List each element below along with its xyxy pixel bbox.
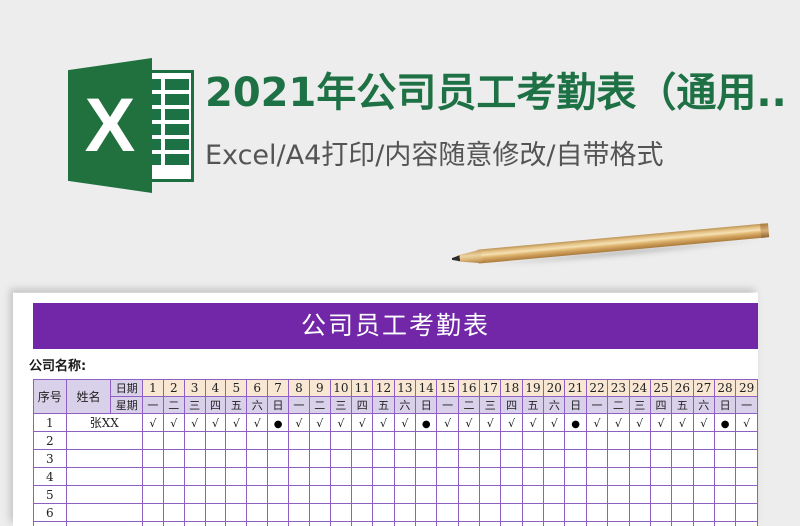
attendance-cell[interactable]: [163, 522, 184, 526]
attendance-cell[interactable]: [629, 432, 650, 450]
weekday-cell: 三: [330, 397, 351, 414]
table-row[interactable]: 2: [34, 432, 758, 450]
present-mark: √: [636, 417, 643, 430]
attendance-cell[interactable]: [288, 504, 309, 522]
attendance-cell[interactable]: [565, 504, 586, 522]
attendance-cell[interactable]: [736, 450, 758, 468]
attendance-cell[interactable]: [330, 504, 351, 522]
attendance-cell[interactable]: [608, 432, 629, 450]
attendance-cell[interactable]: [184, 432, 205, 450]
present-mark: √: [615, 417, 622, 430]
day-number-cell: 14: [416, 380, 437, 397]
company-name-row: 公司名称:: [13, 353, 758, 375]
attendance-cell[interactable]: √: [458, 414, 479, 432]
present-mark: √: [465, 417, 472, 430]
attendance-cell[interactable]: √: [586, 414, 607, 432]
weekday-cell: 六: [693, 397, 714, 414]
attendance-cell[interactable]: [480, 486, 501, 504]
attendance-cell[interactable]: [268, 504, 289, 522]
attendance-cell[interactable]: [309, 486, 330, 504]
attendance-cell[interactable]: [309, 450, 330, 468]
attendance-cell[interactable]: [288, 486, 309, 504]
attendance-cell[interactable]: [247, 486, 268, 504]
attendance-cell[interactable]: [501, 486, 522, 504]
attendance-cell[interactable]: [352, 504, 373, 522]
attendance-cell[interactable]: [672, 450, 693, 468]
attendance-cell[interactable]: [480, 468, 501, 486]
attendance-cell[interactable]: [288, 522, 309, 526]
attendance-cell[interactable]: [608, 468, 629, 486]
pencil-end: [760, 223, 769, 238]
attendance-cell[interactable]: [226, 522, 247, 526]
attendance-cell[interactable]: [522, 504, 543, 522]
attendance-table[interactable]: 序号姓名日期1234567891011121314151617181920212…: [33, 379, 758, 526]
attendance-cell[interactable]: ●: [416, 414, 437, 432]
attendance-cell[interactable]: [416, 486, 437, 504]
attendance-cell[interactable]: [163, 504, 184, 522]
attendance-cell[interactable]: [163, 450, 184, 468]
row-name-cell[interactable]: [66, 450, 142, 468]
weekday-cell: 一: [736, 397, 758, 414]
day-number-cell: 19: [522, 380, 543, 397]
weekday-cell: 三: [184, 397, 205, 414]
attendance-cell[interactable]: [437, 504, 458, 522]
present-mark: √: [254, 417, 261, 430]
attendance-cell[interactable]: [394, 522, 415, 526]
attendance-cell[interactable]: [544, 432, 565, 450]
attendance-cell[interactable]: [416, 522, 437, 526]
attendance-cell[interactable]: [288, 450, 309, 468]
attendance-cell[interactable]: [268, 522, 289, 526]
attendance-cell[interactable]: √: [608, 414, 629, 432]
attendance-cell[interactable]: [330, 432, 351, 450]
attendance-cell[interactable]: [163, 486, 184, 504]
row-index-cell[interactable]: 3: [34, 450, 67, 468]
row-index-cell[interactable]: 1: [34, 414, 67, 432]
attendance-cell[interactable]: [586, 504, 607, 522]
attendance-cell[interactable]: [330, 486, 351, 504]
attendance-grid-wrapper[interactable]: 序号姓名日期1234567891011121314151617181920212…: [33, 379, 758, 526]
attendance-cell[interactable]: [565, 486, 586, 504]
attendance-cell[interactable]: [544, 522, 565, 526]
attendance-cell[interactable]: [480, 432, 501, 450]
day-number-cell: 27: [693, 380, 714, 397]
weekday-cell: 四: [501, 397, 522, 414]
attendance-cell[interactable]: [330, 522, 351, 526]
attendance-cell[interactable]: [352, 486, 373, 504]
attendance-cell[interactable]: [184, 522, 205, 526]
day-number-cell: 17: [480, 380, 501, 397]
attendance-cell[interactable]: [394, 468, 415, 486]
attendance-cell[interactable]: [437, 432, 458, 450]
weekday-cell: 二: [608, 397, 629, 414]
weekday-cell: 五: [373, 397, 394, 414]
attendance-cell[interactable]: [373, 486, 394, 504]
attendance-cell[interactable]: [352, 432, 373, 450]
attendance-cell[interactable]: [501, 468, 522, 486]
row-name-cell[interactable]: [66, 468, 142, 486]
attendance-cell[interactable]: [672, 504, 693, 522]
attendance-cell[interactable]: [268, 450, 289, 468]
attendance-cell[interactable]: [693, 468, 714, 486]
attendance-cell[interactable]: [330, 468, 351, 486]
pencil-graphite-tip: [452, 255, 461, 262]
attendance-cell[interactable]: [714, 504, 735, 522]
row-name-cell[interactable]: 张XX: [66, 414, 142, 432]
day-number-cell: 23: [608, 380, 629, 397]
attendance-cell[interactable]: [629, 522, 650, 526]
attendance-cell[interactable]: [608, 486, 629, 504]
attendance-cell[interactable]: [586, 432, 607, 450]
attendance-cell[interactable]: [309, 522, 330, 526]
attendance-cell[interactable]: √: [247, 414, 268, 432]
attendance-cell[interactable]: ●: [714, 414, 735, 432]
attendance-cell[interactable]: [608, 450, 629, 468]
present-mark: √: [191, 417, 198, 430]
attendance-cell[interactable]: √: [163, 414, 184, 432]
attendance-cell[interactable]: [672, 522, 693, 526]
attendance-cell[interactable]: [736, 504, 758, 522]
attendance-cell[interactable]: [309, 468, 330, 486]
attendance-cell[interactable]: [544, 504, 565, 522]
attendance-cell[interactable]: √: [437, 414, 458, 432]
attendance-cell[interactable]: [247, 504, 268, 522]
attendance-cell[interactable]: [394, 450, 415, 468]
attendance-cell[interactable]: [352, 522, 373, 526]
table-row[interactable]: 1张XX√√√√√√●√√√√√√●√√√√√√●√√√√√√●√: [34, 414, 758, 432]
weekday-cell: 四: [352, 397, 373, 414]
present-mark: √: [487, 417, 494, 430]
attendance-cell[interactable]: [522, 468, 543, 486]
table-row[interactable]: 4: [34, 468, 758, 486]
row-name-cell[interactable]: [66, 432, 142, 450]
attendance-cell[interactable]: [693, 522, 714, 526]
attendance-cell[interactable]: [247, 432, 268, 450]
attendance-cell[interactable]: [373, 468, 394, 486]
attendance-cell[interactable]: [650, 522, 671, 526]
rest-day-mark: ●: [571, 419, 580, 430]
table-row[interactable]: 3: [34, 450, 758, 468]
attendance-cell[interactable]: √: [352, 414, 373, 432]
attendance-cell[interactable]: [142, 486, 163, 504]
weekday-cell: 三: [480, 397, 501, 414]
attendance-cell[interactable]: [352, 468, 373, 486]
attendance-cell[interactable]: [184, 504, 205, 522]
attendance-cell[interactable]: [650, 432, 671, 450]
attendance-cell[interactable]: √: [736, 414, 758, 432]
attendance-cell[interactable]: [650, 486, 671, 504]
attendance-cell[interactable]: √: [330, 414, 351, 432]
attendance-cell[interactable]: [247, 468, 268, 486]
header-name: 姓名: [66, 380, 111, 414]
present-mark: √: [551, 417, 558, 430]
attendance-cell[interactable]: [416, 468, 437, 486]
company-name-label: 公司名称:: [29, 355, 86, 374]
attendance-cell[interactable]: [205, 450, 226, 468]
attendance-cell[interactable]: [458, 450, 479, 468]
present-mark: √: [380, 417, 387, 430]
attendance-cell[interactable]: [247, 522, 268, 526]
day-number-cell: 13: [394, 380, 415, 397]
attendance-cell[interactable]: [544, 468, 565, 486]
attendance-cell[interactable]: [522, 432, 543, 450]
day-number-cell: 16: [458, 380, 479, 397]
attendance-cell[interactable]: [586, 486, 607, 504]
day-number-cell: 28: [714, 380, 735, 397]
table-row[interactable]: 6: [34, 504, 758, 522]
attendance-cell[interactable]: [480, 504, 501, 522]
attendance-cell[interactable]: [394, 486, 415, 504]
attendance-cell[interactable]: [736, 468, 758, 486]
row-name-cell[interactable]: [66, 504, 142, 522]
attendance-cell[interactable]: [373, 450, 394, 468]
attendance-cell[interactable]: [226, 468, 247, 486]
attendance-cell[interactable]: ●: [268, 414, 289, 432]
day-number-cell: 26: [672, 380, 693, 397]
attendance-cell[interactable]: [693, 486, 714, 504]
attendance-cell[interactable]: [394, 504, 415, 522]
attendance-cell[interactable]: [309, 432, 330, 450]
attendance-cell[interactable]: [650, 450, 671, 468]
attendance-cell[interactable]: [142, 432, 163, 450]
present-mark: √: [359, 417, 366, 430]
attendance-cell[interactable]: [522, 450, 543, 468]
attendance-cell[interactable]: [288, 432, 309, 450]
attendance-cell[interactable]: √: [629, 414, 650, 432]
table-row[interactable]: 7: [34, 522, 758, 526]
attendance-cell[interactable]: [247, 450, 268, 468]
day-number-cell: 4: [205, 380, 226, 397]
attendance-cell[interactable]: [565, 432, 586, 450]
attendance-cell[interactable]: [565, 450, 586, 468]
row-name-cell[interactable]: [66, 486, 142, 504]
attendance-cell[interactable]: [480, 522, 501, 526]
attendance-cell[interactable]: [714, 432, 735, 450]
attendance-cell[interactable]: √: [394, 414, 415, 432]
attendance-cell[interactable]: √: [650, 414, 671, 432]
present-mark: √: [170, 417, 177, 430]
attendance-cell[interactable]: [458, 432, 479, 450]
row-name-cell[interactable]: [66, 522, 142, 526]
attendance-cell[interactable]: [437, 450, 458, 468]
attendance-cell[interactable]: [458, 486, 479, 504]
attendance-cell[interactable]: [205, 504, 226, 522]
attendance-cell[interactable]: √: [373, 414, 394, 432]
attendance-cell[interactable]: [501, 522, 522, 526]
present-mark: √: [700, 417, 707, 430]
attendance-cell[interactable]: [544, 486, 565, 504]
attendance-cell[interactable]: [268, 468, 289, 486]
attendance-cell[interactable]: [184, 468, 205, 486]
weekday-cell: 五: [226, 397, 247, 414]
row-index-cell[interactable]: 5: [34, 486, 67, 504]
weekday-cell: 六: [394, 397, 415, 414]
attendance-cell[interactable]: [142, 450, 163, 468]
weekday-cell: 一: [142, 397, 163, 414]
weekday-cell: 五: [672, 397, 693, 414]
attendance-cell[interactable]: [672, 468, 693, 486]
attendance-cell[interactable]: √: [184, 414, 205, 432]
rest-day-mark: ●: [422, 419, 431, 430]
attendance-cell[interactable]: [714, 486, 735, 504]
day-number-cell: 29: [736, 380, 758, 397]
attendance-cell[interactable]: [205, 522, 226, 526]
attendance-cell[interactable]: [586, 450, 607, 468]
attendance-cell[interactable]: [458, 522, 479, 526]
day-number-cell: 11: [352, 380, 373, 397]
attendance-cell[interactable]: √: [205, 414, 226, 432]
attendance-cell[interactable]: √: [309, 414, 330, 432]
attendance-cell[interactable]: [650, 504, 671, 522]
attendance-cell[interactable]: [501, 432, 522, 450]
attendance-cell[interactable]: [268, 432, 289, 450]
attendance-cell[interactable]: [714, 450, 735, 468]
day-number-cell: 15: [437, 380, 458, 397]
attendance-cell[interactable]: [205, 432, 226, 450]
attendance-cell[interactable]: [226, 432, 247, 450]
attendance-cell[interactable]: [205, 468, 226, 486]
attendance-cell[interactable]: [522, 486, 543, 504]
attendance-cell[interactable]: [142, 504, 163, 522]
attendance-cell[interactable]: [226, 486, 247, 504]
attendance-cell[interactable]: √: [288, 414, 309, 432]
attendance-cell[interactable]: [437, 486, 458, 504]
weekday-cell: 一: [437, 397, 458, 414]
present-mark: √: [233, 417, 240, 430]
day-number-cell: 1: [142, 380, 163, 397]
attendance-cell[interactable]: √: [142, 414, 163, 432]
row-index-cell[interactable]: 2: [34, 432, 67, 450]
attendance-cell[interactable]: [501, 504, 522, 522]
promo-banner: X 2021年公司员工考勤表（通用... Excel/A4打印/内容随意修改/自…: [0, 0, 800, 293]
attendance-cell[interactable]: [330, 450, 351, 468]
attendance-cell[interactable]: [501, 450, 522, 468]
present-mark: √: [149, 417, 156, 430]
weekday-cell: 六: [247, 397, 268, 414]
table-row[interactable]: 5: [34, 486, 758, 504]
present-mark: √: [212, 417, 219, 430]
attendance-cell[interactable]: [629, 450, 650, 468]
attendance-cell[interactable]: √: [693, 414, 714, 432]
attendance-cell[interactable]: √: [226, 414, 247, 432]
attendance-cell[interactable]: [416, 432, 437, 450]
attendance-cell[interactable]: √: [544, 414, 565, 432]
attendance-cell[interactable]: [142, 522, 163, 526]
attendance-cell[interactable]: [586, 522, 607, 526]
attendance-cell[interactable]: [565, 468, 586, 486]
promo-subtitle: Excel/A4打印/内容随意修改/自带格式: [205, 136, 785, 176]
weekday-cell: 日: [268, 397, 289, 414]
attendance-cell[interactable]: [565, 522, 586, 526]
day-number-cell: 18: [501, 380, 522, 397]
attendance-cell[interactable]: [650, 468, 671, 486]
day-number-cell: 6: [247, 380, 268, 397]
attendance-cell[interactable]: [416, 504, 437, 522]
sheet-title-banner: 公司员工考勤表: [33, 303, 758, 349]
weekday-cell: 六: [544, 397, 565, 414]
present-mark: √: [337, 417, 344, 430]
attendance-cell[interactable]: [184, 450, 205, 468]
attendance-cell[interactable]: [163, 432, 184, 450]
attendance-cell[interactable]: [608, 522, 629, 526]
row-index-cell[interactable]: 4: [34, 468, 67, 486]
attendance-cell[interactable]: √: [480, 414, 501, 432]
attendance-cell[interactable]: [693, 504, 714, 522]
attendance-cell[interactable]: √: [501, 414, 522, 432]
attendance-cell[interactable]: [163, 468, 184, 486]
attendance-cell[interactable]: ●: [565, 414, 586, 432]
attendance-cell[interactable]: [205, 486, 226, 504]
day-number-cell: 7: [268, 380, 289, 397]
attendance-cell[interactable]: [437, 522, 458, 526]
attendance-cell[interactable]: [736, 486, 758, 504]
attendance-cell[interactable]: [736, 522, 758, 526]
attendance-cell[interactable]: [226, 504, 247, 522]
attendance-cell[interactable]: [142, 468, 163, 486]
day-number-cell: 12: [373, 380, 394, 397]
attendance-cell[interactable]: [544, 450, 565, 468]
attendance-cell[interactable]: [629, 504, 650, 522]
attendance-cell[interactable]: [309, 504, 330, 522]
weekday-cell: 四: [205, 397, 226, 414]
attendance-cell[interactable]: [437, 468, 458, 486]
attendance-cell[interactable]: [458, 504, 479, 522]
day-number-cell: 21: [565, 380, 586, 397]
attendance-cell[interactable]: [480, 450, 501, 468]
attendance-cell[interactable]: [672, 432, 693, 450]
sheet-title: 公司员工考勤表: [33, 303, 758, 349]
attendance-cell[interactable]: [693, 450, 714, 468]
attendance-cell[interactable]: [458, 468, 479, 486]
attendance-cell[interactable]: [672, 486, 693, 504]
attendance-cell[interactable]: [416, 450, 437, 468]
header-index: 序号: [34, 380, 67, 414]
attendance-cell[interactable]: [714, 468, 735, 486]
attendance-cell[interactable]: [288, 468, 309, 486]
attendance-cell[interactable]: [586, 468, 607, 486]
attendance-cell[interactable]: [522, 522, 543, 526]
row-index-cell[interactable]: 7: [34, 522, 67, 526]
day-number-cell: 10: [330, 380, 351, 397]
attendance-cell[interactable]: [373, 432, 394, 450]
attendance-cell[interactable]: [608, 504, 629, 522]
weekday-cell: 二: [309, 397, 330, 414]
attendance-cell[interactable]: [226, 450, 247, 468]
attendance-cell[interactable]: [629, 486, 650, 504]
attendance-cell[interactable]: [693, 432, 714, 450]
present-mark: √: [401, 417, 408, 430]
attendance-cell[interactable]: [394, 432, 415, 450]
rest-day-mark: ●: [274, 419, 283, 430]
attendance-cell[interactable]: √: [672, 414, 693, 432]
attendance-cell[interactable]: [629, 468, 650, 486]
weekday-cell: 一: [288, 397, 309, 414]
pencil-decoration: [451, 217, 792, 272]
present-mark: √: [743, 417, 750, 430]
attendance-cell[interactable]: [373, 504, 394, 522]
attendance-cell[interactable]: [373, 522, 394, 526]
present-mark: √: [529, 417, 536, 430]
attendance-cell[interactable]: [184, 486, 205, 504]
row-index-cell[interactable]: 6: [34, 504, 67, 522]
day-number-cell: 22: [586, 380, 607, 397]
attendance-cell[interactable]: [714, 522, 735, 526]
attendance-cell[interactable]: [736, 432, 758, 450]
attendance-cell[interactable]: √: [522, 414, 543, 432]
attendance-cell[interactable]: [268, 486, 289, 504]
day-number-cell: 8: [288, 380, 309, 397]
attendance-cell[interactable]: [352, 450, 373, 468]
